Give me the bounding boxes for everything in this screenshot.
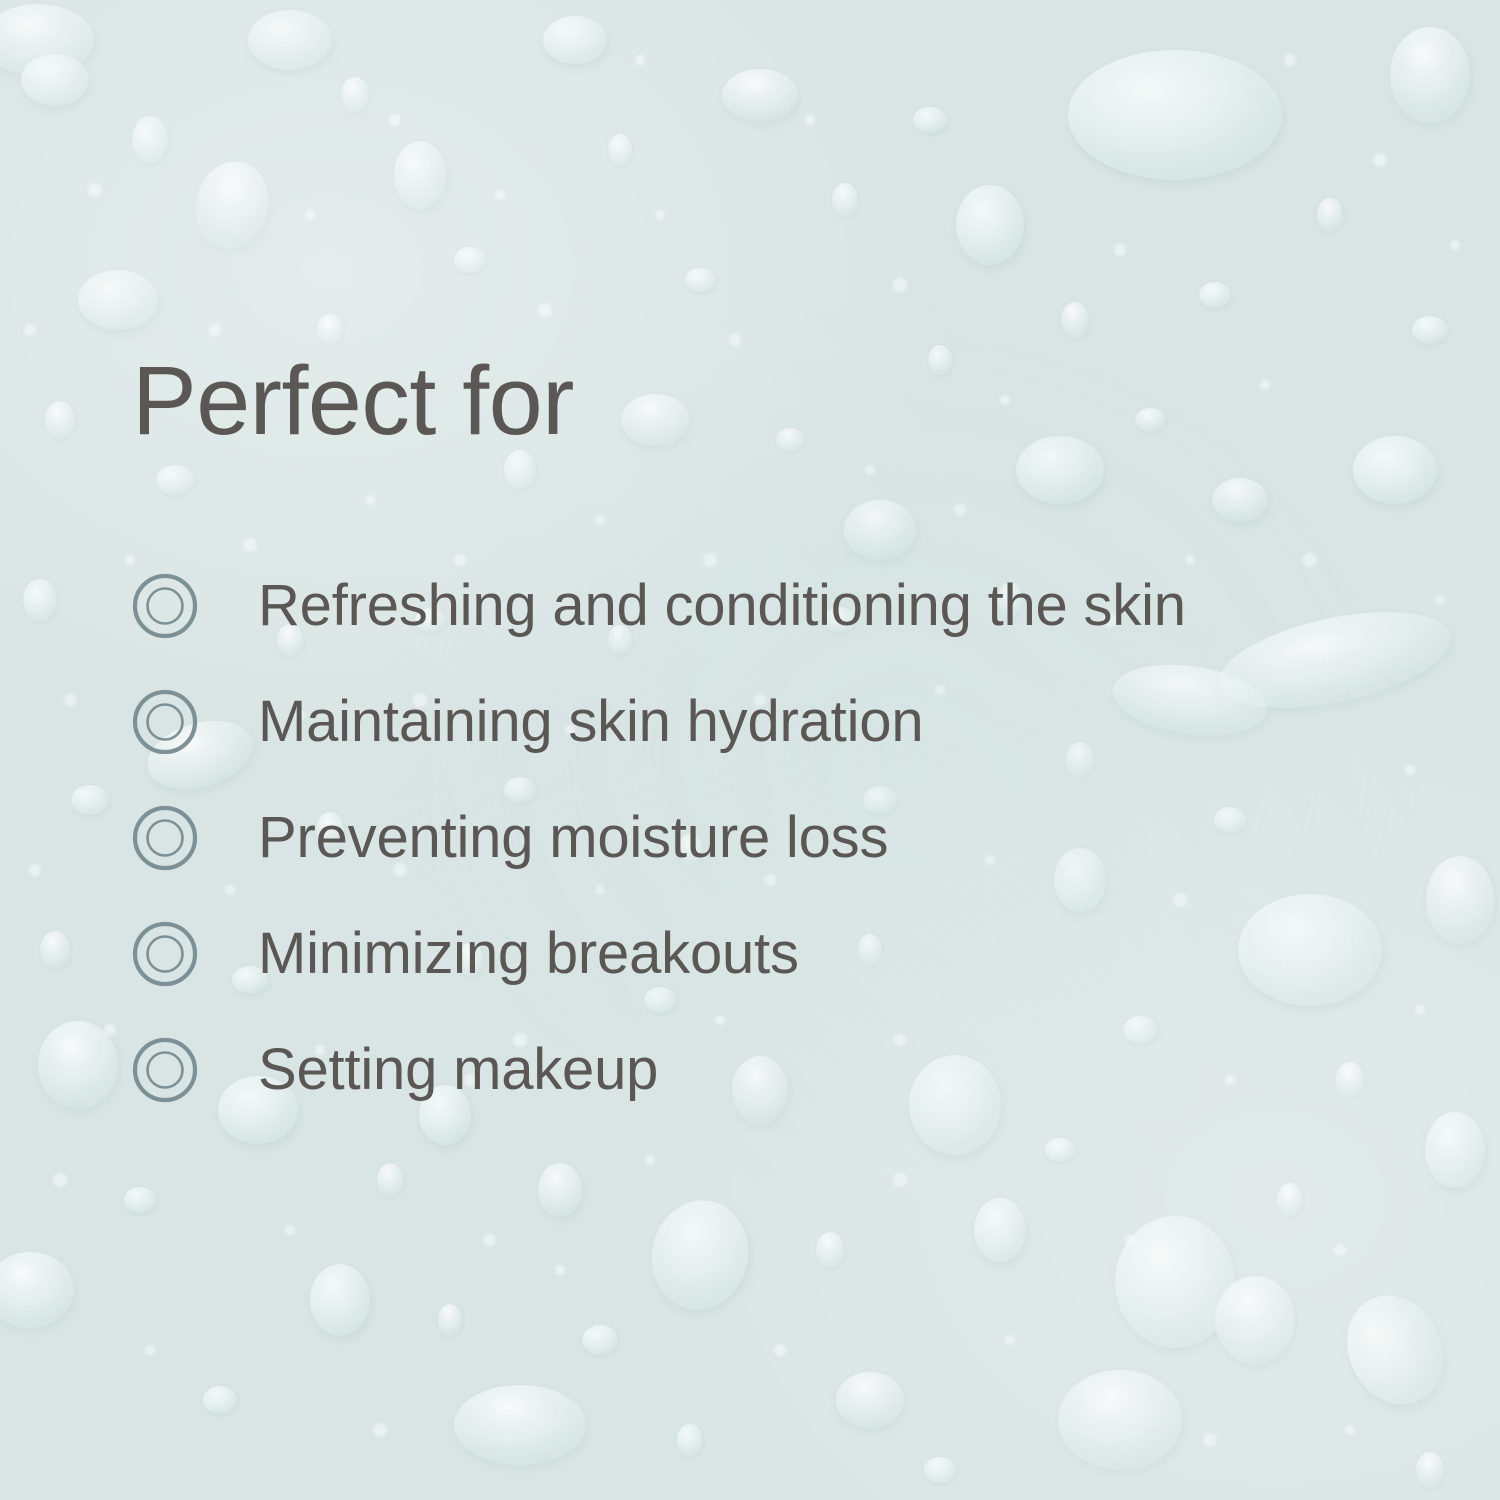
list-item-label: Maintaining skin hydration	[258, 692, 923, 753]
benefits-list: Refreshing and conditioning the skin Mai…	[132, 548, 1432, 1128]
list-item: Refreshing and conditioning the skin	[132, 548, 1432, 664]
page-title: Perfect for	[132, 352, 574, 449]
list-item-label: Refreshing and conditioning the skin	[258, 576, 1186, 637]
product-benefits-card: Perfect for Refreshing and conditioning …	[0, 0, 1500, 1500]
list-item: Minimizing breakouts	[132, 896, 1432, 1012]
content-area: Perfect for Refreshing and conditioning …	[0, 0, 1500, 1500]
concentric-circles-icon	[132, 573, 198, 639]
concentric-circles-icon	[132, 1037, 198, 1103]
list-item-label: Preventing moisture loss	[258, 808, 888, 869]
list-item-label: Setting makeup	[258, 1040, 658, 1101]
list-item-label: Minimizing breakouts	[258, 924, 799, 985]
concentric-circles-icon	[132, 805, 198, 871]
list-item: Maintaining skin hydration	[132, 664, 1432, 780]
concentric-circles-icon	[132, 689, 198, 755]
list-item: Setting makeup	[132, 1012, 1432, 1128]
list-item: Preventing moisture loss	[132, 780, 1432, 896]
concentric-circles-icon	[132, 921, 198, 987]
